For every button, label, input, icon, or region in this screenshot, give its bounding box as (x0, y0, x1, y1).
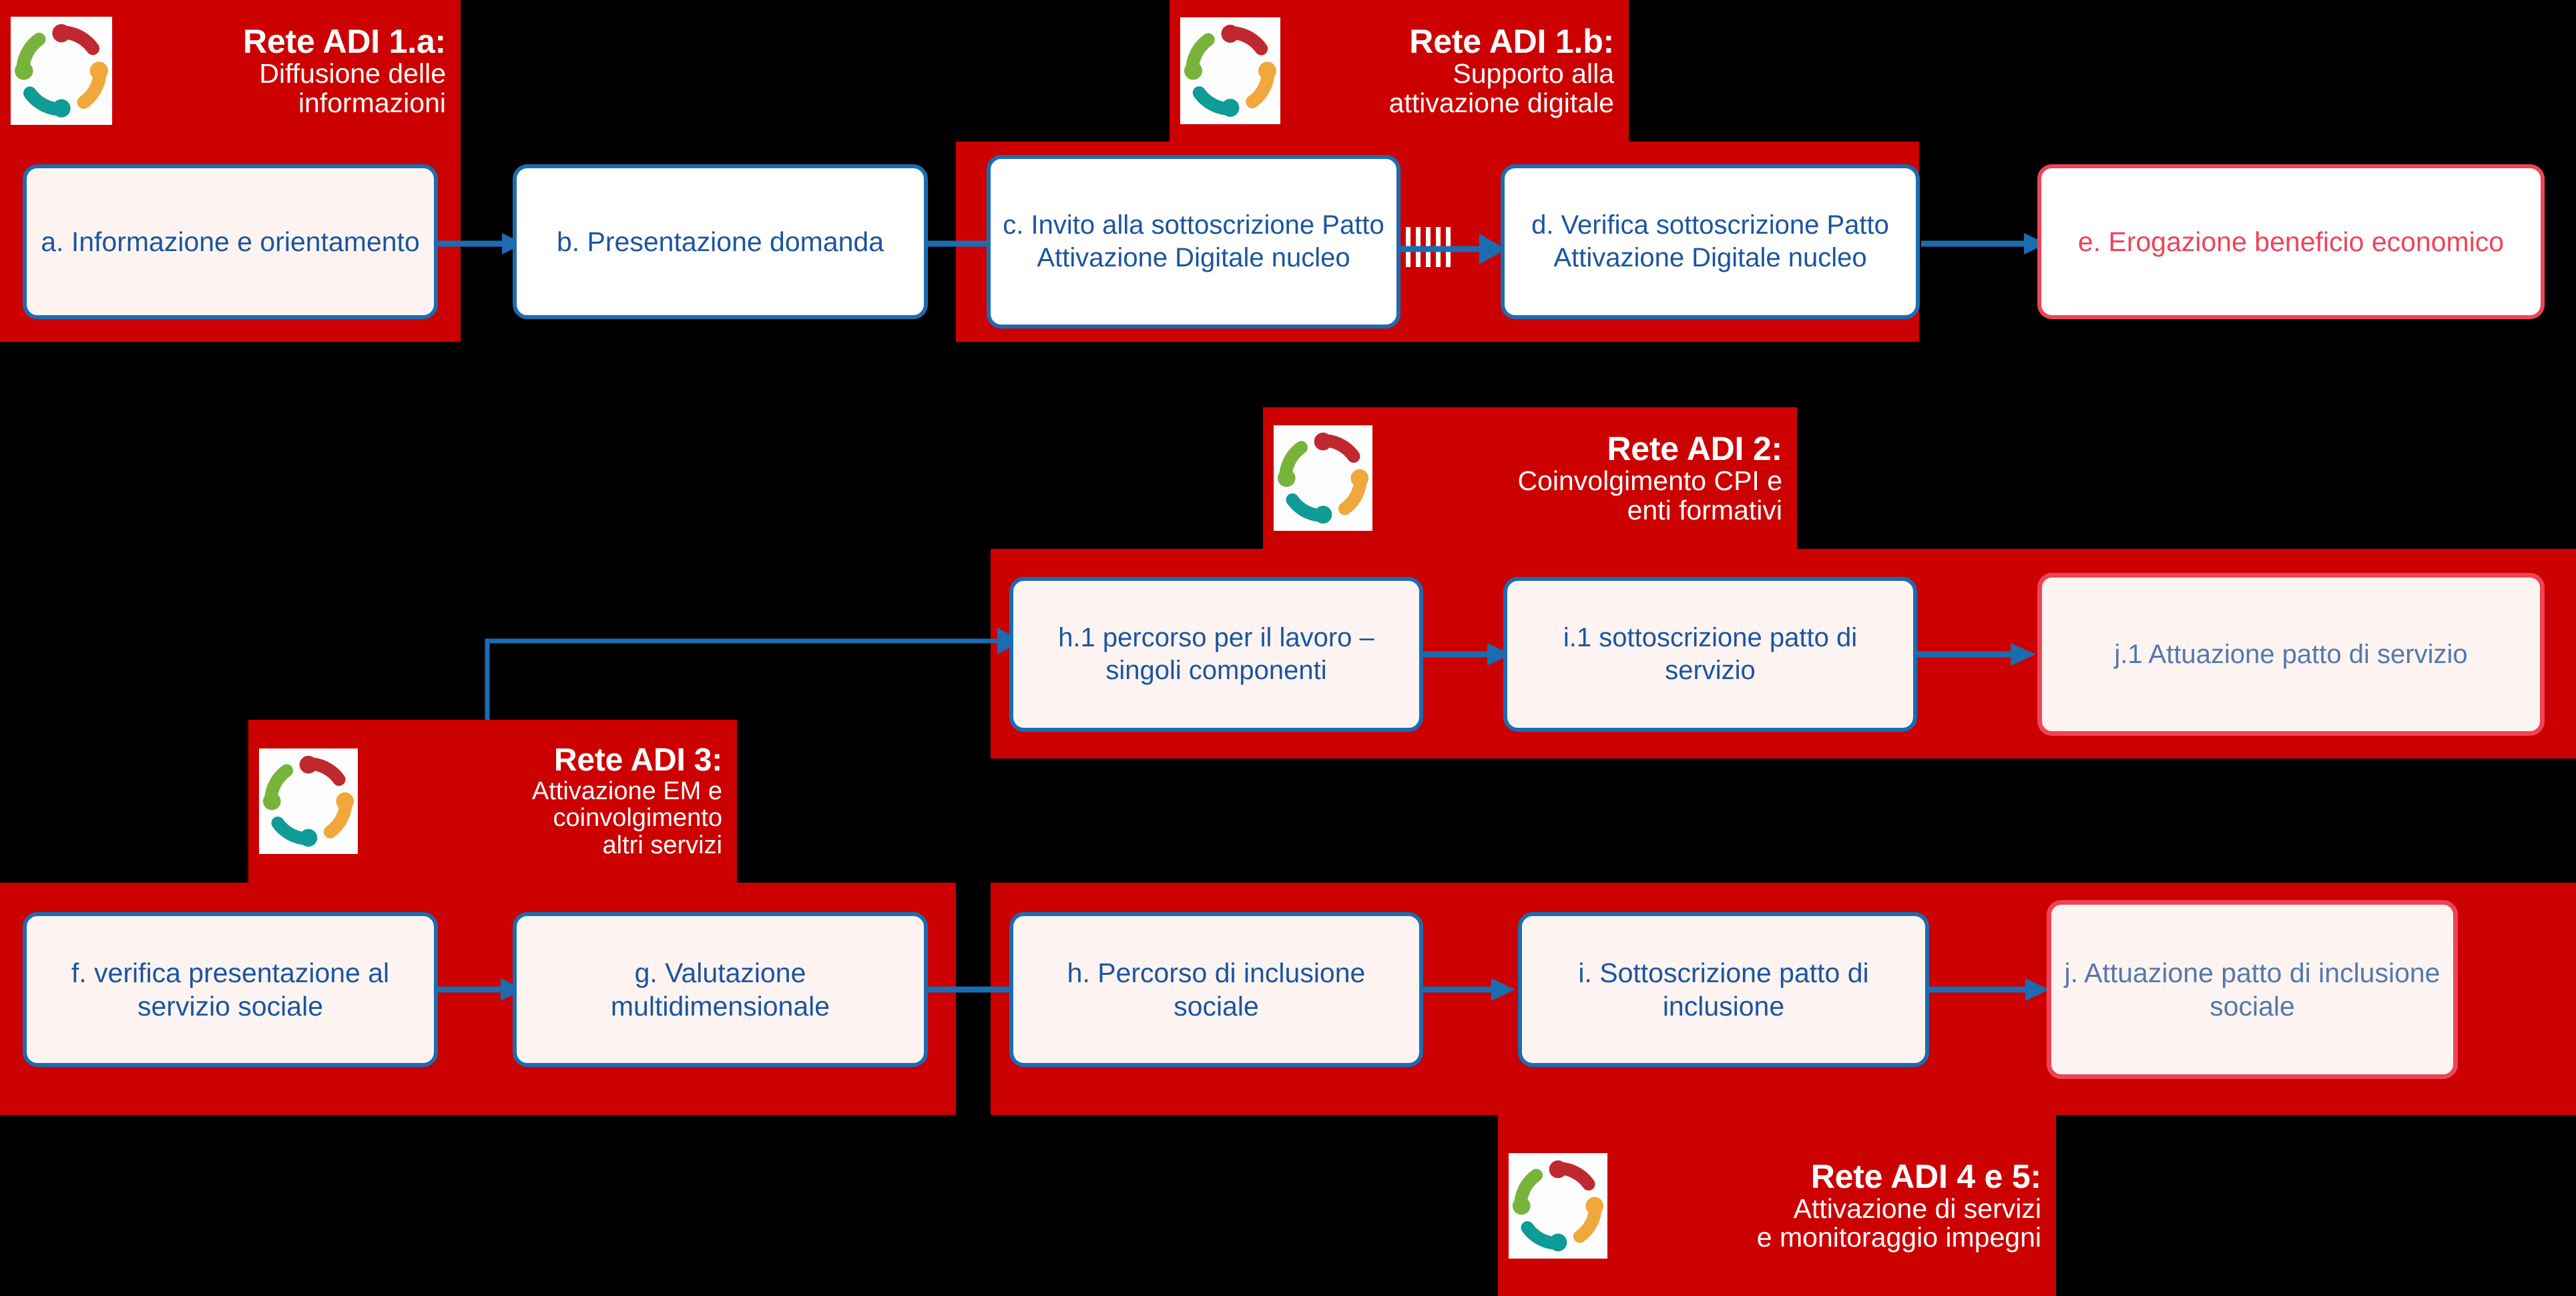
node-c-label: c. Invito alla sottoscrizione Patto Atti… (991, 209, 1396, 274)
node-h-label: h. Percorso di inclusione sociale (1013, 956, 1419, 1023)
group-subtitle-line-2: coinvolgimento (370, 805, 722, 831)
node-i-label: i. Sottoscrizione patto di inclusione (1522, 956, 1925, 1023)
connector-a-to-b (438, 230, 525, 257)
group-subtitle-line-1: Attivazione EM e (370, 778, 722, 805)
connector-f-to-g (438, 976, 525, 1003)
rete-adi-logo-icon (1509, 1153, 1607, 1259)
group-header-adi-1b-text: Rete ADI 1.b: Supporto alla attivazione … (1292, 24, 1614, 118)
node-e-label: e. Erogazione beneficio economico (2069, 225, 2513, 258)
node-i1-label: i.1 sottoscrizione patto di servizio (1507, 622, 1913, 687)
group-subtitle-line-2: attivazione digitale (1292, 89, 1614, 118)
node-f[interactable]: f. verifica presentazione al servizio so… (23, 912, 438, 1067)
node-a[interactable]: a. Informazione e orientamento (23, 164, 438, 319)
node-c[interactable]: c. Invito alla sottoscrizione Patto Atti… (987, 155, 1400, 329)
node-g[interactable]: g. Valutazione multidimensionale (513, 912, 928, 1067)
group-header-adi-4-5-text: Rete ADI 4 e 5: Attivazione di servizi e… (1619, 1159, 2041, 1253)
connector-c-to-d-hatched (1400, 212, 1507, 286)
group-header-adi-3[interactable]: Rete ADI 3: Attivazione EM e coinvolgime… (248, 720, 737, 883)
group-header-adi-2[interactable]: Rete ADI 2: Coinvolgimento CPI e enti fo… (1263, 407, 1797, 549)
group-subtitle-line-2: enti formativi (1384, 496, 1782, 525)
node-g-label: g. Valutazione multidimensionale (517, 956, 924, 1023)
node-b[interactable]: b. Presentazione domanda (513, 164, 928, 319)
rete-adi-logo-icon (259, 748, 358, 854)
group-subtitle-line-1: Diffusione delle (124, 59, 446, 88)
node-i[interactable]: i. Sottoscrizione patto di inclusione (1518, 912, 1929, 1067)
node-j1[interactable]: j.1 Attuazione patto di servizio (2037, 573, 2545, 736)
group-title: Rete ADI 4 e 5: (1619, 1159, 2041, 1195)
rete-adi-logo-icon (1274, 425, 1372, 531)
rete-adi-logo-icon (1180, 17, 1280, 124)
node-a-label: a. Informazione e orientamento (31, 225, 429, 258)
group-subtitle-line-3: altri servizi (370, 832, 722, 859)
connector-h1-to-i1 (1421, 641, 1514, 668)
group-subtitle-line-2: informazioni (124, 89, 446, 118)
node-h[interactable]: h. Percorso di inclusione sociale (1009, 912, 1423, 1067)
group-header-adi-3-text: Rete ADI 3: Attivazione EM e coinvolgime… (370, 744, 722, 859)
group-header-adi-2-text: Rete ADI 2: Coinvolgimento CPI e enti fo… (1384, 431, 1782, 525)
group-title: Rete ADI 2: (1384, 431, 1782, 467)
node-d[interactable]: d. Verifica sottoscrizione Patto Attivaz… (1501, 164, 1920, 319)
connector-d-to-e (1921, 230, 2048, 257)
node-f-label: f. verifica presentazione al servizio so… (27, 956, 434, 1023)
group-title: Rete ADI 1.a: (124, 24, 446, 59)
node-h1[interactable]: h.1 percorso per il lavoro – singoli com… (1009, 577, 1423, 732)
node-i1[interactable]: i.1 sottoscrizione patto di servizio (1503, 577, 1917, 732)
rete-adi-logo-icon (11, 17, 112, 125)
group-title: Rete ADI 3: (370, 744, 722, 778)
group-subtitle-line-1: Attivazione di servizi (1619, 1195, 2041, 1223)
group-subtitle-line-1: Coinvolgimento CPI e (1384, 467, 1782, 495)
group-header-adi-1a[interactable]: Rete ADI 1.a: Diffusione delle informazi… (0, 0, 461, 142)
node-d-label: d. Verifica sottoscrizione Patto Attivaz… (1505, 209, 1916, 274)
connector-i-to-j (1926, 976, 2053, 1003)
group-title: Rete ADI 1.b: (1292, 24, 1614, 59)
group-subtitle-line-1: Supporto alla (1292, 59, 1614, 88)
group-header-adi-1a-text: Rete ADI 1.a: Diffusione delle informazi… (124, 24, 446, 118)
node-j[interactable]: j. Attuazione patto di inclusione social… (2047, 900, 2458, 1079)
node-h1-label: h.1 percorso per il lavoro – singoli com… (1013, 622, 1419, 687)
group-header-adi-4-5[interactable]: Rete ADI 4 e 5: Attivazione di servizi e… (1498, 1115, 2056, 1296)
group-subtitle-line-2: e monitoraggio impegni (1619, 1223, 2041, 1252)
node-e[interactable]: e. Erogazione beneficio economico (2037, 164, 2545, 319)
node-j1-label: j.1 Attuazione patto di servizio (2105, 638, 2477, 671)
node-j-label: j. Attuazione patto di inclusione social… (2051, 956, 2453, 1023)
node-b-label: b. Presentazione domanda (547, 225, 893, 258)
group-header-adi-1b[interactable]: Rete ADI 1.b: Supporto alla attivazione … (1170, 0, 1629, 142)
connector-h-to-i (1421, 976, 1521, 1003)
flow-diagram-canvas: a. Informazione e orientamento b. Presen… (0, 0, 2576, 1296)
